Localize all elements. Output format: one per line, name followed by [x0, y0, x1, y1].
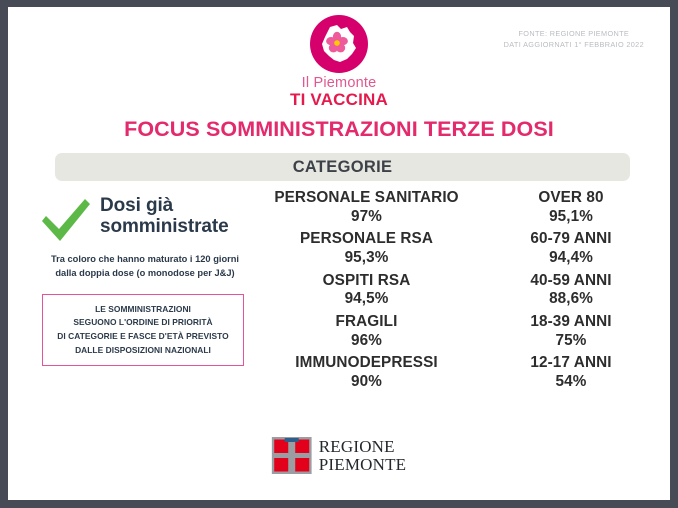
stat-value: 95,3% — [254, 249, 479, 268]
stat-label: IMMUNODEPRESSI — [254, 354, 479, 373]
stat-value: 94,5% — [254, 290, 479, 309]
priority-line: LE SOMMINISTRAZIONI — [47, 303, 239, 317]
doses-heading-line2: somministrate — [100, 216, 229, 237]
priority-line: SEGUONO L'ORDINE DI PRIORITÀ — [47, 316, 239, 330]
stat-value: 88,6% — [476, 290, 666, 309]
stat-label: FRAGILI — [254, 313, 479, 332]
stat-label: 18-39 ANNI — [476, 313, 666, 332]
priority-line: DI CATEGORIE E FASCE D'ETÀ PREVISTO — [47, 330, 239, 344]
piemonte-map-flower-icon — [310, 15, 368, 73]
green-checkmark-icon — [38, 197, 94, 247]
stat-column-age-groups: OVER 80 95,1% 60-79 ANNI 94,4% 40-59 ANN… — [476, 189, 666, 396]
stat-value: 96% — [254, 332, 479, 351]
doses-subtitle-line2: dalla doppia dose (o monodose per J&J) — [32, 267, 258, 281]
stat-value: 95,1% — [476, 208, 666, 227]
doses-panel: Dosi già somministrate Tra coloro che ha… — [30, 189, 260, 366]
source-note-line1: FONTE: REGIONE PIEMONTE — [504, 29, 644, 40]
campaign-logo-line2: TI VACCINA — [264, 91, 414, 109]
campaign-logo-line1: Il Piemonte — [264, 76, 414, 91]
wordmark-line1: REGIONE — [319, 438, 407, 455]
categorie-band: CATEGORIE — [55, 153, 630, 181]
stat-label: OSPITI RSA — [254, 272, 479, 291]
doses-heading: Dosi già somministrate — [100, 189, 229, 238]
source-note: FONTE: REGIONE PIEMONTE DATI AGGIORNATI … — [504, 29, 644, 51]
stat-value: 75% — [476, 332, 666, 351]
stat-label: 12-17 ANNI — [476, 354, 666, 373]
source-note-line2: DATI AGGIORNATI 1° FEBBRAIO 2022 — [504, 40, 644, 51]
stat-value: 97% — [254, 208, 479, 227]
doses-block: Dosi già somministrate — [30, 189, 260, 247]
regione-piemonte-logo: REGIONE PIEMONTE — [272, 437, 407, 474]
doses-subtitle-line1: Tra coloro che hanno maturato i 120 gior… — [32, 253, 258, 267]
regione-piemonte-cross-emblem — [272, 437, 312, 474]
stat-label: OVER 80 — [476, 189, 666, 208]
stat-label: PERSONALE SANITARIO — [254, 189, 479, 208]
priority-notice-box: LE SOMMINISTRAZIONI SEGUONO L'ORDINE DI … — [42, 294, 244, 366]
infographic-sheet: Il Piemonte TI VACCINA FONTE: REGIONE PI… — [8, 7, 670, 500]
regione-piemonte-wordmark: REGIONE PIEMONTE — [319, 438, 407, 473]
stat-value: 94,4% — [476, 249, 666, 268]
stat-value: 90% — [254, 373, 479, 392]
content-area: Dosi già somministrate Tra coloro che ha… — [8, 189, 670, 419]
stat-label: 60-79 ANNI — [476, 230, 666, 249]
stat-label: PERSONALE RSA — [254, 230, 479, 249]
wordmark-line2: PIEMONTE — [319, 456, 407, 473]
page-frame: Il Piemonte TI VACCINA FONTE: REGIONE PI… — [0, 0, 678, 508]
categorie-band-label: CATEGORIE — [293, 158, 393, 177]
campaign-logo: Il Piemonte TI VACCINA — [264, 15, 414, 109]
page-title: FOCUS SOMMINISTRAZIONI TERZE DOSI — [8, 117, 670, 142]
header: Il Piemonte TI VACCINA FONTE: REGIONE PI… — [8, 7, 670, 112]
stat-label: 40-59 ANNI — [476, 272, 666, 291]
stat-value: 54% — [476, 373, 666, 392]
stat-column-categories: PERSONALE SANITARIO 97% PERSONALE RSA 95… — [254, 189, 479, 396]
doses-heading-line1: Dosi già — [100, 195, 229, 216]
priority-line: DALLE DISPOSIZIONI NAZIONALI — [47, 344, 239, 358]
doses-subtitle: Tra coloro che hanno maturato i 120 gior… — [30, 253, 260, 281]
